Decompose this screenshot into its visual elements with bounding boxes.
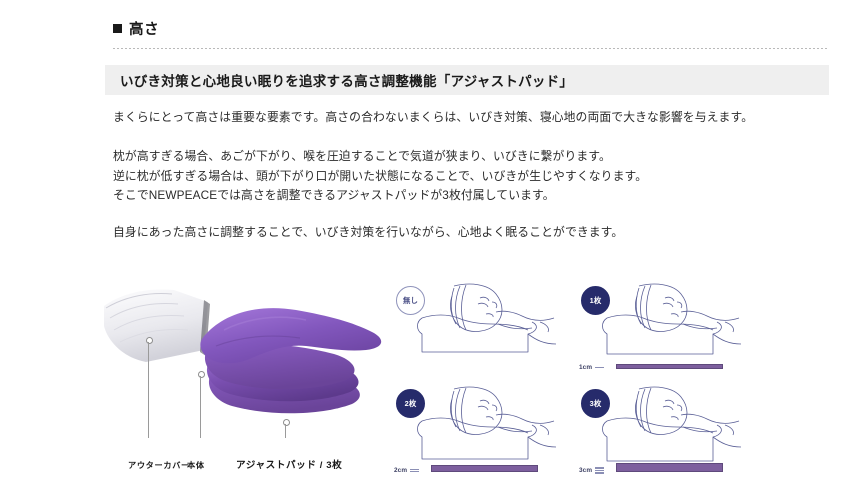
paragraph-2: 枕が高すぎる場合、あごが下がり、喉を圧迫することで気道が狭まり、いびきに繋がりま… (113, 147, 647, 206)
panel-measure-three: 3cm (579, 467, 604, 474)
pad-thickness-bar-one (616, 364, 723, 369)
callout-label-outer-cover: アウターカバー (128, 459, 190, 471)
panel-badge-three: 3枚 (581, 389, 610, 418)
callout-label-adjust-pad: アジャストパッド / 3枚 (236, 457, 342, 471)
filled-square-icon (113, 24, 122, 33)
callout-leader-adjust-pad (285, 424, 286, 438)
callout-leader-body (200, 376, 201, 438)
panel-badge-none: 無し (396, 286, 425, 315)
paragraph-2-line-2: 逆に枕が低すぎる場合は、頭が下がり口が開いた状態になることで、いびきが生じやすく… (113, 167, 647, 187)
pad-count-marks-two (410, 469, 419, 473)
product-photo: アウターカバー 本体 アジャストパッド / 3枚 (100, 276, 390, 476)
diagram-panel-three: 3枚 3cm (577, 385, 757, 480)
callout-leader-outer-cover (148, 342, 149, 438)
panel-measure-two: 2cm (394, 467, 419, 474)
subtitle-label: いびき対策と心地良い眠りを追求する高さ調整機能「アジャストパッド」 (120, 70, 573, 90)
diagram-panel-two: 2枚 2cm (392, 385, 572, 480)
paragraph-2-line-1: 枕が高すぎる場合、あごが下がり、喉を圧迫することで気道が狭まり、いびきに繋がりま… (113, 147, 647, 167)
pillow-illustration (100, 276, 390, 476)
divider (113, 48, 829, 49)
panel-measure-label-two: 2cm (394, 467, 407, 474)
panel-measure-label-three: 3cm (579, 467, 592, 474)
callout-label-body: 本体 (187, 459, 205, 471)
page-title: 高さ (113, 18, 159, 39)
pad-count-marks-one (595, 367, 604, 368)
paragraph-3: 自身にあった高さに調整することで、いびき対策を行いながら、心地よく眠ることができ… (113, 223, 623, 242)
panel-badge-one: 1枚 (581, 286, 610, 315)
pad-thickness-bar-three (616, 463, 723, 472)
adjust-pad-diagram: 無し (392, 282, 762, 472)
paragraph-1: まくらにとって高さは重要な要素です。高さの合わないまくらは、いびき対策、寝心地の… (113, 108, 753, 127)
height-section-page: 高さ いびき対策と心地良い眠りを追求する高さ調整機能「アジャストパッド」 まくら… (0, 0, 851, 498)
diagram-panel-none: 無し (392, 282, 572, 377)
subtitle-bar: いびき対策と心地良い眠りを追求する高さ調整機能「アジャストパッド」 (105, 65, 829, 95)
panel-measure-one: 1cm (579, 364, 604, 371)
pad-count-marks-three (595, 467, 604, 474)
panel-badge-two: 2枚 (396, 389, 425, 418)
page-title-label: 高さ (129, 18, 159, 39)
pad-thickness-bar-two (431, 465, 538, 472)
diagram-panel-one: 1枚 1cm (577, 282, 757, 377)
panel-measure-label-one: 1cm (579, 364, 592, 371)
paragraph-2-line-3: そこでNEWPEACEでは高さを調整できるアジャストパッドが3枚付属しています。 (113, 186, 647, 206)
